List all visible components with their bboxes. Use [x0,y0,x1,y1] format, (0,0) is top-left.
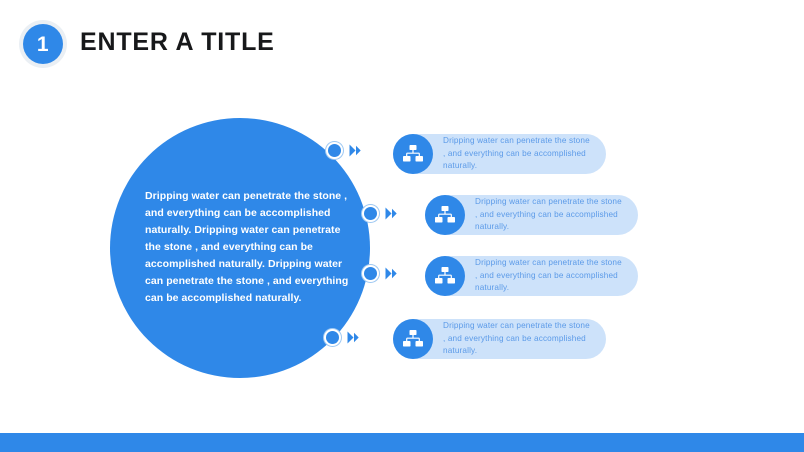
org-chart-icon [425,195,465,235]
double-chevron-right-icon [385,267,399,280]
slide-header: 1 ENTER A TITLE [0,0,804,86]
list-item[interactable]: Dripping water can penetrate the stone ,… [393,319,606,359]
list-item[interactable]: Dripping water can penetrate the stone ,… [393,134,606,174]
double-chevron-right-icon [349,144,363,157]
step-number-badge: 1 [23,24,63,64]
footer-bar [0,433,804,452]
org-chart-icon [393,134,433,174]
list-item-text: Dripping water can penetrate the stone ,… [433,135,606,173]
list-item[interactable]: Dripping water can penetrate the stone ,… [425,256,638,296]
connector-dot-icon [364,267,377,280]
list-item-text: Dripping water can penetrate the stone ,… [465,196,638,234]
connector-4 [326,329,361,345]
connector-2 [364,205,399,221]
step-number-label: 1 [37,34,49,55]
summary-circle-text: Dripping water can penetrate the stone ,… [145,188,358,307]
list-item-text: Dripping water can penetrate the stone ,… [465,257,638,295]
list-item[interactable]: Dripping water can penetrate the stone ,… [425,195,638,235]
org-chart-icon [393,319,433,359]
connector-1 [328,142,363,158]
connector-dot-icon [328,144,341,157]
page-title: ENTER A TITLE [80,28,275,57]
double-chevron-right-icon [385,207,399,220]
connector-dot-icon [364,207,377,220]
org-chart-icon [425,256,465,296]
list-item-text: Dripping water can penetrate the stone ,… [433,320,606,358]
double-chevron-right-icon [347,331,361,344]
connector-dot-icon [326,331,339,344]
connector-3 [364,265,399,281]
